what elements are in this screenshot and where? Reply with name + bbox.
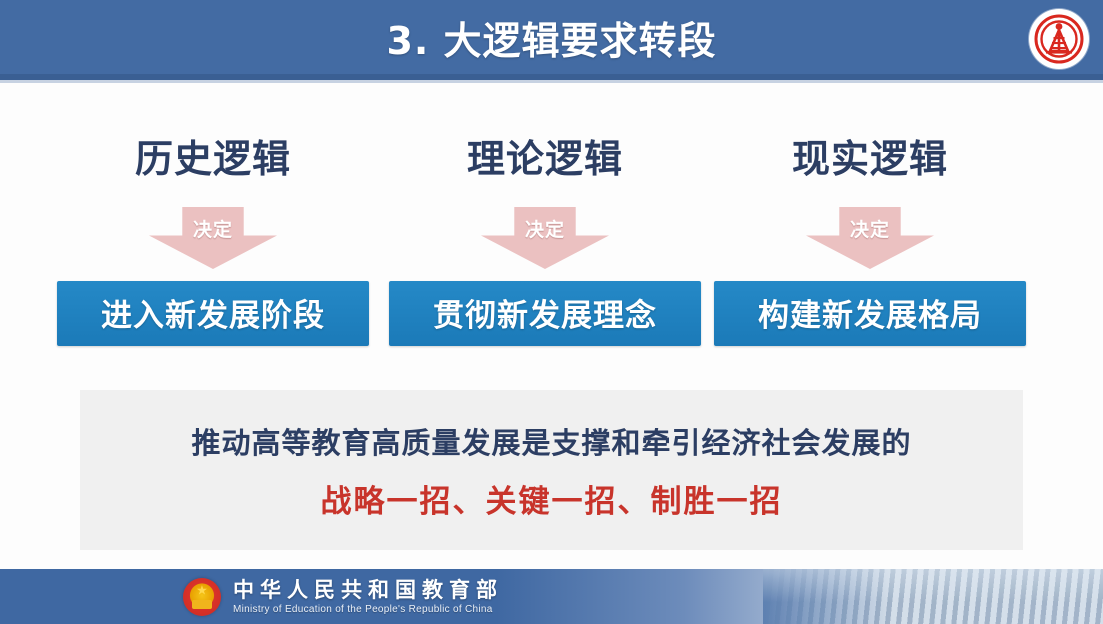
page-title: 3. 大逻辑要求转段 <box>0 0 1103 74</box>
logic-column-practical: 现实逻辑 决定 构建新发展格局 <box>705 86 1035 346</box>
ministry-building-photo <box>763 569 1103 624</box>
slide-header: 3. 大逻辑要求转段 <box>0 0 1103 80</box>
column-heading: 历史逻辑 <box>135 128 291 183</box>
summary-line-primary: 推动高等教育高质量发展是支撑和牵引经济社会发展的 <box>191 420 911 462</box>
decides-arrow-1: 决定 <box>149 207 277 269</box>
footer-branding: ★ 中华人民共和国教育部 Ministry of Education of th… <box>183 569 503 624</box>
decides-arrow-2: 决定 <box>481 207 609 269</box>
ministry-name-en: Ministry of Education of the People's Re… <box>233 604 503 615</box>
emblem-gate <box>192 600 212 609</box>
institution-seal-logo <box>1029 9 1089 69</box>
summary-line-emphasis: 战略一招、关键一招、制胜一招 <box>321 476 783 521</box>
photo-sky-overlay <box>763 569 1103 624</box>
logic-column-theoretical: 理论逻辑 决定 贯彻新发展理念 <box>380 86 710 346</box>
column-heading: 理论逻辑 <box>467 128 623 183</box>
column-heading: 现实逻辑 <box>792 128 948 183</box>
seal-icon <box>1032 12 1086 66</box>
arrow-label: 决定 <box>149 215 277 242</box>
emblem-star: ★ <box>196 584 208 597</box>
footer-text-block: 中华人民共和国教育部 Ministry of Education of the … <box>233 578 503 614</box>
arrow-label: 决定 <box>806 215 934 242</box>
ministry-name-cn: 中华人民共和国教育部 <box>233 578 503 602</box>
outcome-box-3[interactable]: 构建新发展格局 <box>714 281 1026 346</box>
slide-root: 3. 大逻辑要求转段 历史逻辑 决定 进入新发展阶段 <box>0 0 1103 624</box>
national-emblem-icon: ★ <box>183 578 221 616</box>
arrow-label: 决定 <box>481 215 609 242</box>
logic-column-historical: 历史逻辑 决定 进入新发展阶段 <box>48 86 378 346</box>
slide-footer: ★ 中华人民共和国教育部 Ministry of Education of th… <box>0 569 1103 624</box>
outcome-box-1[interactable]: 进入新发展阶段 <box>57 281 369 346</box>
summary-panel: 推动高等教育高质量发展是支撑和牵引经济社会发展的 战略一招、关键一招、制胜一招 <box>80 390 1023 550</box>
logic-columns: 历史逻辑 决定 进入新发展阶段 理论逻辑 决定 贯彻新发展理念 现实逻辑 决定 … <box>0 86 1103 366</box>
outcome-box-2[interactable]: 贯彻新发展理念 <box>389 281 701 346</box>
decides-arrow-3: 决定 <box>806 207 934 269</box>
header-hairline <box>0 80 1103 83</box>
